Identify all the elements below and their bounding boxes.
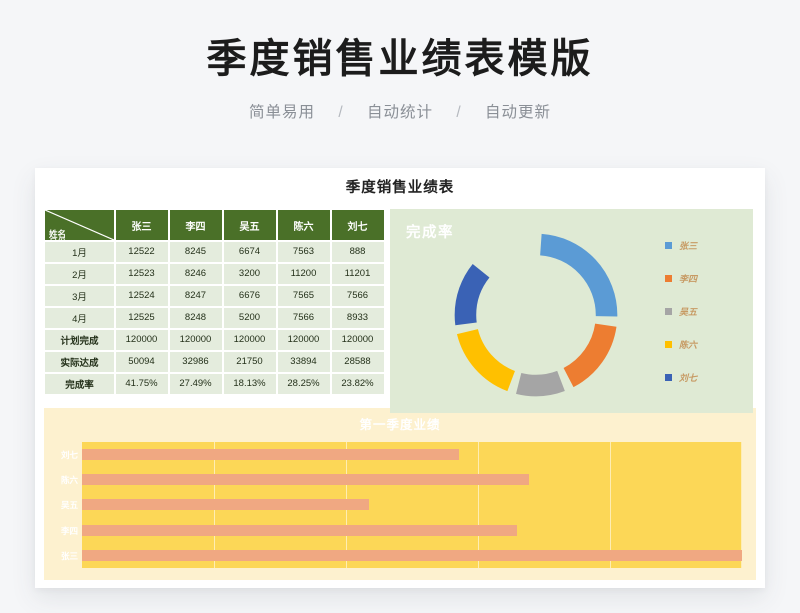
bar-category-label: 李四 bbox=[44, 527, 78, 536]
table-cell[interactable]: 23.82% bbox=[331, 373, 385, 395]
table-row-header: 1月 bbox=[45, 241, 115, 263]
table-cell[interactable]: 120000 bbox=[331, 329, 385, 351]
page-header: 季度销售业绩表模版 简单易用 / 自动统计 / 自动更新 bbox=[0, 0, 800, 122]
legend-item[interactable]: 李四 bbox=[665, 264, 739, 292]
bar-row bbox=[82, 543, 742, 568]
bar-row bbox=[82, 467, 742, 492]
table-row[interactable]: 完成率 41.75% 27.49% 18.13% 28.25% 23.82% bbox=[45, 373, 385, 395]
table-column-header: 陈六 bbox=[277, 210, 331, 241]
table-row[interactable]: 4月 12525 8248 5200 7566 8933 bbox=[45, 307, 385, 329]
bar-category-label: 张三 bbox=[44, 552, 78, 561]
table-cell[interactable]: 888 bbox=[331, 241, 385, 263]
table-cell[interactable]: 8245 bbox=[169, 241, 223, 263]
table-row-header: 4月 bbox=[45, 307, 115, 329]
table-cell[interactable]: 120000 bbox=[277, 329, 331, 351]
table-row-header: 2月 bbox=[45, 263, 115, 285]
bar-chart-panel: 第一季度业绩 刘七 陈六 吴五 李四 张三 bbox=[44, 408, 756, 580]
preview-card: 季度销售业绩表 第一季度业绩 刘七 陈六 吴五 李四 张三 bbox=[35, 168, 765, 588]
table-cell[interactable]: 28.25% bbox=[277, 373, 331, 395]
bar-chart-plot-area bbox=[82, 442, 742, 568]
page-title: 季度销售业绩表模版 bbox=[0, 0, 800, 84]
bar-row bbox=[82, 442, 742, 467]
table-cell[interactable]: 7563 bbox=[277, 241, 331, 263]
legend-item[interactable]: 陈六 bbox=[665, 330, 739, 358]
legend-item[interactable]: 张三 bbox=[665, 231, 739, 259]
bar-fill bbox=[82, 499, 369, 510]
table-cell[interactable]: 120000 bbox=[115, 329, 169, 351]
table-cell[interactable]: 8933 bbox=[331, 307, 385, 329]
bar-row bbox=[82, 518, 742, 543]
table-row[interactable]: 3月 12524 8247 6676 7565 7566 bbox=[45, 285, 385, 307]
bar-fill bbox=[82, 474, 529, 485]
corner-month-label: 月份 bbox=[49, 238, 66, 241]
table-row[interactable]: 实际达成 50094 32986 21750 33894 28588 bbox=[45, 351, 385, 373]
table-cell[interactable]: 120000 bbox=[223, 329, 277, 351]
table-cell[interactable]: 21750 bbox=[223, 351, 277, 373]
table-cell[interactable]: 5200 bbox=[223, 307, 277, 329]
subtitle-item-3: 自动更新 bbox=[485, 104, 551, 121]
table-cell[interactable]: 120000 bbox=[169, 329, 223, 351]
page-subtitle: 简单易用 / 自动统计 / 自动更新 bbox=[0, 84, 800, 122]
table-cell[interactable]: 8246 bbox=[169, 263, 223, 285]
bar-row bbox=[82, 492, 742, 517]
legend-label: 刘七 bbox=[679, 371, 697, 384]
legend-swatch-icon bbox=[665, 275, 672, 282]
table-row[interactable]: 2月 12523 8246 3200 11200 11201 bbox=[45, 263, 385, 285]
table-cell[interactable]: 18.13% bbox=[223, 373, 277, 395]
table-cell[interactable]: 7566 bbox=[331, 285, 385, 307]
table-row-header: 3月 bbox=[45, 285, 115, 307]
table-row[interactable]: 计划完成 120000 120000 120000 120000 120000 bbox=[45, 329, 385, 351]
bar-chart-category-axis: 刘七 陈六 吴五 李四 张三 bbox=[44, 442, 82, 568]
table-column-header: 吴五 bbox=[223, 210, 277, 241]
table-cell[interactable]: 27.49% bbox=[169, 373, 223, 395]
table-cell[interactable]: 6676 bbox=[223, 285, 277, 307]
table-corner-cell: 姓名 月份 bbox=[45, 210, 115, 241]
subtitle-separator-2: / bbox=[438, 104, 479, 122]
table-column-header: 张三 bbox=[115, 210, 169, 241]
bar-chart-series bbox=[82, 442, 742, 568]
table-cell[interactable]: 12524 bbox=[115, 285, 169, 307]
donut-chart-legend: 张三 李四 吴五 陈六 刘七 bbox=[665, 231, 739, 396]
subtitle-item-2: 自动统计 bbox=[367, 104, 433, 121]
table-column-header: 李四 bbox=[169, 210, 223, 241]
donut-chart-graphic bbox=[438, 217, 634, 413]
table-cell[interactable]: 28588 bbox=[331, 351, 385, 373]
bar-fill bbox=[82, 550, 742, 561]
table-cell[interactable]: 32986 bbox=[169, 351, 223, 373]
bar-fill bbox=[82, 525, 517, 536]
table-row-header: 计划完成 bbox=[45, 329, 115, 351]
legend-swatch-icon bbox=[665, 308, 672, 315]
table-row[interactable]: 1月 12522 8245 6674 7563 888 bbox=[45, 241, 385, 263]
table-cell[interactable]: 41.75% bbox=[115, 373, 169, 395]
donut-chart-panel: 完成率 张三 李四 吴五 bbox=[390, 209, 753, 413]
table-row-header: 完成率 bbox=[45, 373, 115, 395]
legend-swatch-icon bbox=[665, 374, 672, 381]
table-cell[interactable]: 3200 bbox=[223, 263, 277, 285]
legend-label: 陈六 bbox=[679, 338, 697, 351]
legend-item[interactable]: 吴五 bbox=[665, 297, 739, 325]
legend-label: 吴五 bbox=[679, 305, 697, 318]
table-cell[interactable]: 6674 bbox=[223, 241, 277, 263]
bar-fill bbox=[82, 449, 459, 460]
legend-item[interactable]: 刘七 bbox=[665, 363, 739, 391]
table-cell[interactable]: 8248 bbox=[169, 307, 223, 329]
table-cell[interactable]: 11201 bbox=[331, 263, 385, 285]
table-row-header: 实际达成 bbox=[45, 351, 115, 373]
bar-category-label: 吴五 bbox=[44, 501, 78, 510]
sales-data-table[interactable]: 姓名 月份 张三 李四 吴五 陈六 刘七 1月 12522 8245 6674 … bbox=[44, 209, 385, 395]
table-cell[interactable]: 50094 bbox=[115, 351, 169, 373]
table-header-row: 姓名 月份 张三 李四 吴五 陈六 刘七 bbox=[45, 210, 385, 241]
legend-label: 张三 bbox=[679, 239, 697, 252]
legend-swatch-icon bbox=[665, 242, 672, 249]
table-cell[interactable]: 7565 bbox=[277, 285, 331, 307]
subtitle-separator-1: / bbox=[320, 104, 361, 122]
table-cell[interactable]: 7566 bbox=[277, 307, 331, 329]
card-title: 季度销售业绩表 bbox=[35, 176, 765, 197]
bar-chart-title: 第一季度业绩 bbox=[44, 414, 756, 433]
table-cell[interactable]: 8247 bbox=[169, 285, 223, 307]
table-column-header: 刘七 bbox=[331, 210, 385, 241]
table-cell[interactable]: 12522 bbox=[115, 241, 169, 263]
table-cell[interactable]: 12523 bbox=[115, 263, 169, 285]
legend-swatch-icon bbox=[665, 341, 672, 348]
table-cell[interactable]: 12525 bbox=[115, 307, 169, 329]
table-cell[interactable]: 33894 bbox=[277, 351, 331, 373]
bar-category-label: 刘七 bbox=[44, 451, 78, 460]
legend-label: 李四 bbox=[679, 272, 697, 285]
table-cell[interactable]: 11200 bbox=[277, 263, 331, 285]
bar-category-label: 陈六 bbox=[44, 476, 78, 485]
subtitle-item-1: 简单易用 bbox=[249, 104, 315, 121]
